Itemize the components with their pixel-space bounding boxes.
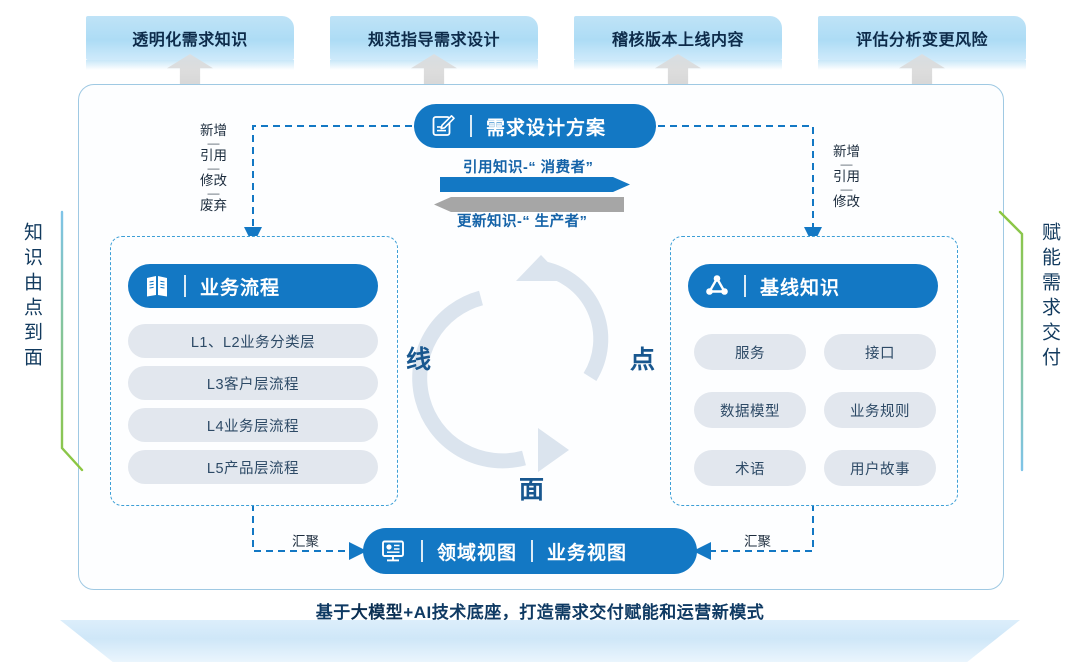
base-chip-3-label: 业务规则 bbox=[850, 400, 910, 421]
flow-chip-3[interactable]: L5产品层流程 bbox=[128, 450, 378, 484]
right-side-text: 赋能需求交付 bbox=[1036, 222, 1063, 372]
aggregate-label-right: 汇聚 bbox=[744, 530, 771, 550]
caption-suffix: +AI技术底座，打造需求交付赋能和运营新模式 bbox=[403, 603, 764, 622]
consume-arrow bbox=[440, 177, 630, 192]
base-chip-4-label: 术语 bbox=[735, 458, 765, 479]
business-view-title: 业务视图 bbox=[547, 538, 627, 565]
base-chip-5[interactable]: 用户故事 bbox=[824, 450, 936, 486]
knowledge-node-icon bbox=[704, 273, 730, 299]
design-plan-title: 需求设计方案 bbox=[486, 113, 606, 140]
flow-chip-1-label: L3客户层流程 bbox=[207, 373, 299, 394]
pill-divider bbox=[421, 540, 423, 562]
produce-arrow-label: 更新知识-“ 生产者” bbox=[457, 210, 587, 231]
bottom-band bbox=[60, 620, 1020, 662]
consume-arrow-label: 引用知识-“ 消费者” bbox=[463, 156, 593, 177]
pill-divider bbox=[184, 275, 186, 297]
base-chip-1[interactable]: 接口 bbox=[824, 334, 936, 370]
flow-book-icon bbox=[144, 274, 170, 298]
cycle-label-line: 线 bbox=[406, 340, 431, 376]
base-chip-5-label: 用户故事 bbox=[850, 458, 910, 479]
caption-strong: 大模型 bbox=[351, 603, 404, 622]
left-connector-item-3: 废弃 bbox=[200, 199, 227, 213]
base-chip-0[interactable]: 服务 bbox=[694, 334, 806, 370]
view-bar-pill[interactable]: 领域视图 业务视图 bbox=[363, 528, 697, 574]
flow-chip-2[interactable]: L4业务层流程 bbox=[128, 408, 378, 442]
cycle-label-point: 点 bbox=[630, 340, 655, 376]
base-chip-1-label: 接口 bbox=[865, 342, 895, 363]
base-chip-3[interactable]: 业务规则 bbox=[824, 392, 936, 428]
base-chip-2-label: 数据模型 bbox=[720, 400, 780, 421]
left-side-text: 知识由点到面 bbox=[18, 222, 45, 372]
left-connector-label: 新增 — 引用 — 修改 — 废弃 bbox=[200, 124, 227, 213]
caption: 基于大模型+AI技术底座，打造需求交付赋能和运营新模式 bbox=[0, 598, 1080, 623]
base-chip-0-label: 服务 bbox=[735, 342, 765, 363]
business-flow-pill[interactable]: 业务流程 bbox=[128, 264, 378, 308]
cycle-arrows bbox=[420, 255, 601, 472]
cycle-label-plane: 面 bbox=[519, 470, 544, 506]
baseline-knowledge-title: 基线知识 bbox=[760, 273, 840, 300]
base-chip-4[interactable]: 术语 bbox=[694, 450, 806, 486]
right-connector-item-2: 修改 bbox=[833, 195, 860, 209]
aggregate-label-left: 汇聚 bbox=[292, 530, 319, 550]
flow-chip-0-label: L1、L2业务分类层 bbox=[191, 331, 315, 352]
pill-divider bbox=[744, 275, 746, 297]
flow-chip-1[interactable]: L3客户层流程 bbox=[128, 366, 378, 400]
flow-chip-2-label: L4业务层流程 bbox=[207, 415, 299, 436]
design-plan-pill[interactable]: 需求设计方案 bbox=[414, 104, 656, 148]
domain-view-title: 领域视图 bbox=[437, 538, 517, 565]
document-edit-icon bbox=[430, 113, 456, 139]
right-connector-label: 新增 — 引用 — 修改 bbox=[833, 145, 860, 209]
business-flow-title: 业务流程 bbox=[200, 273, 280, 300]
diagram-canvas: 透明化需求知识 规范指导需求设计 稽核版本上线内容 评估分析变更风险 bbox=[0, 0, 1080, 664]
dashboard-board-icon bbox=[379, 538, 407, 564]
baseline-knowledge-pill[interactable]: 基线知识 bbox=[688, 264, 938, 308]
caption-prefix: 基于 bbox=[316, 603, 351, 622]
flow-chip-3-label: L5产品层流程 bbox=[207, 457, 299, 478]
flow-chip-0[interactable]: L1、L2业务分类层 bbox=[128, 324, 378, 358]
pill-divider-2 bbox=[531, 540, 533, 562]
pill-divider bbox=[470, 115, 472, 137]
base-chip-2[interactable]: 数据模型 bbox=[694, 392, 806, 428]
